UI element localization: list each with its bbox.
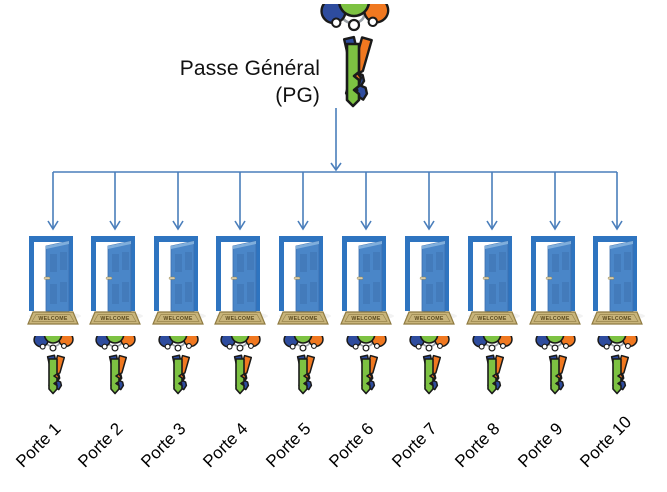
svg-text:WELCOME: WELCOME (477, 316, 506, 322)
open-door-icon-1[interactable]: WELCOME (25, 232, 81, 327)
open-door-icon-3[interactable]: WELCOME (150, 232, 206, 327)
master-key-title-line1: Passe Général (120, 55, 320, 82)
arrow-down-icon-4 (235, 221, 245, 229)
door-label-4: Porte 4 (199, 419, 251, 471)
arrow-down-icon-3 (173, 221, 183, 229)
arrow-down-icon-master (331, 163, 341, 170)
door-label-5: Porte 5 (262, 419, 314, 471)
door-keyring-icon-3 (156, 336, 201, 396)
svg-text:WELCOME: WELCOME (100, 316, 129, 322)
arrow-down-icon-10 (612, 221, 622, 229)
door-label-10: Porte 10 (576, 412, 635, 471)
door-keyring-icon-2 (93, 336, 138, 396)
svg-text:WELCOME: WELCOME (225, 316, 254, 322)
arrow-down-icon-6 (361, 221, 371, 229)
master-keyring-icon (316, 4, 392, 112)
arrow-down-icon-2 (110, 221, 120, 229)
arrow-down-icon-9 (550, 221, 560, 229)
svg-text:WELCOME: WELCOME (38, 316, 67, 322)
door-keyring-icon-7 (407, 336, 452, 396)
door-keyring-icon-10 (595, 336, 640, 396)
door-label-8: Porte 8 (451, 419, 503, 471)
svg-text:WELCOME: WELCOME (540, 316, 569, 322)
arrow-down-icon-5 (298, 221, 308, 229)
open-door-icon-2[interactable]: WELCOME (87, 232, 143, 327)
door-label-6: Porte 6 (325, 419, 377, 471)
diagram-canvas: Passe Général (PG) (0, 0, 667, 492)
open-door-icon-6[interactable]: WELCOME (338, 232, 394, 327)
door-keyring-icon-1 (31, 336, 76, 396)
arrow-down-icon-1 (48, 221, 58, 229)
arrow-down-icon-7 (424, 221, 434, 229)
door-label-7: Porte 7 (388, 419, 440, 471)
door-label-3: Porte 3 (137, 419, 189, 471)
door-label-2: Porte 2 (74, 419, 126, 471)
door-keyring-icon-5 (281, 336, 326, 396)
open-door-icon-10[interactable]: WELCOME (589, 232, 645, 327)
master-key-title: Passe Général (PG) (120, 55, 320, 109)
open-door-icon-8[interactable]: WELCOME (464, 232, 520, 327)
open-door-icon-9[interactable]: WELCOME (527, 232, 583, 327)
open-door-icon-5[interactable]: WELCOME (275, 232, 331, 327)
arrow-down-icon-8 (487, 221, 497, 229)
door-keyring-icon-8 (470, 336, 515, 396)
svg-text:WELCOME: WELCOME (288, 316, 317, 322)
open-door-icon-4[interactable]: WELCOME (212, 232, 268, 327)
open-door-icon-7[interactable]: WELCOME (401, 232, 457, 327)
door-label-9: Porte 9 (514, 419, 566, 471)
door-keyring-icon-9 (533, 336, 578, 396)
svg-text:WELCOME: WELCOME (351, 316, 380, 322)
door-label-1: Porte 1 (12, 419, 64, 471)
svg-text:WELCOME: WELCOME (163, 316, 192, 322)
master-key-title-line2: (PG) (120, 82, 320, 109)
svg-text:WELCOME: WELCOME (602, 316, 631, 322)
door-keyring-icon-6 (344, 336, 389, 396)
door-keyring-icon-4 (218, 336, 263, 396)
svg-text:WELCOME: WELCOME (414, 316, 443, 322)
